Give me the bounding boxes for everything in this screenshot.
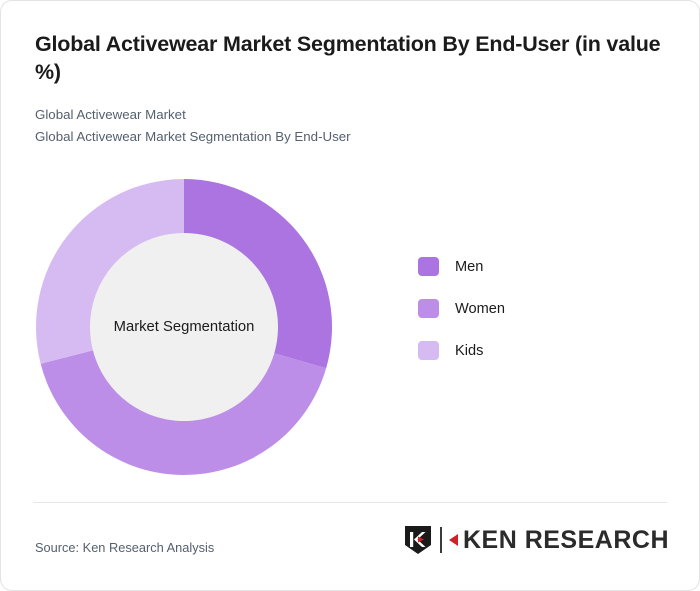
legend-item-men[interactable]: Men (418, 257, 505, 276)
chart-area: Market Segmentation Men Women Kids (1, 157, 699, 487)
legend-swatch-women (418, 299, 439, 318)
donut-chart: Market Segmentation (36, 179, 332, 475)
subtitle-segmentation: Global Activewear Market Segmentation By… (35, 126, 665, 148)
donut-hole (90, 233, 278, 421)
subtitle-market: Global Activewear Market (35, 104, 665, 126)
footer-divider (33, 502, 667, 503)
legend-swatch-men (418, 257, 439, 276)
subtitle-group: Global Activewear Market Global Activewe… (35, 104, 665, 147)
chart-footer: Source: Ken Research Analysis KEN RESEAR… (1, 502, 699, 590)
chart-card: Global Activewear Market Segmentation By… (0, 0, 700, 591)
chart-header: Global Activewear Market Segmentation By… (1, 1, 699, 147)
legend-item-women[interactable]: Women (418, 299, 505, 318)
legend-item-kids[interactable]: Kids (418, 341, 505, 360)
legend-label-men: Men (455, 259, 483, 275)
logo-triangle-icon (449, 534, 458, 546)
page-title: Global Activewear Market Segmentation By… (35, 31, 665, 86)
legend-label-women: Women (455, 301, 505, 317)
donut-svg (36, 179, 332, 475)
ken-research-logo: KEN RESEARCH (403, 524, 669, 556)
logo-wordmark: KEN RESEARCH (463, 526, 669, 555)
logo-shield-icon (403, 524, 433, 556)
logo-divider (440, 527, 442, 553)
source-text: Source: Ken Research Analysis (35, 540, 214, 555)
legend-swatch-kids (418, 341, 439, 360)
legend-label-kids: Kids (455, 343, 483, 359)
chart-legend: Men Women Kids (418, 257, 505, 360)
